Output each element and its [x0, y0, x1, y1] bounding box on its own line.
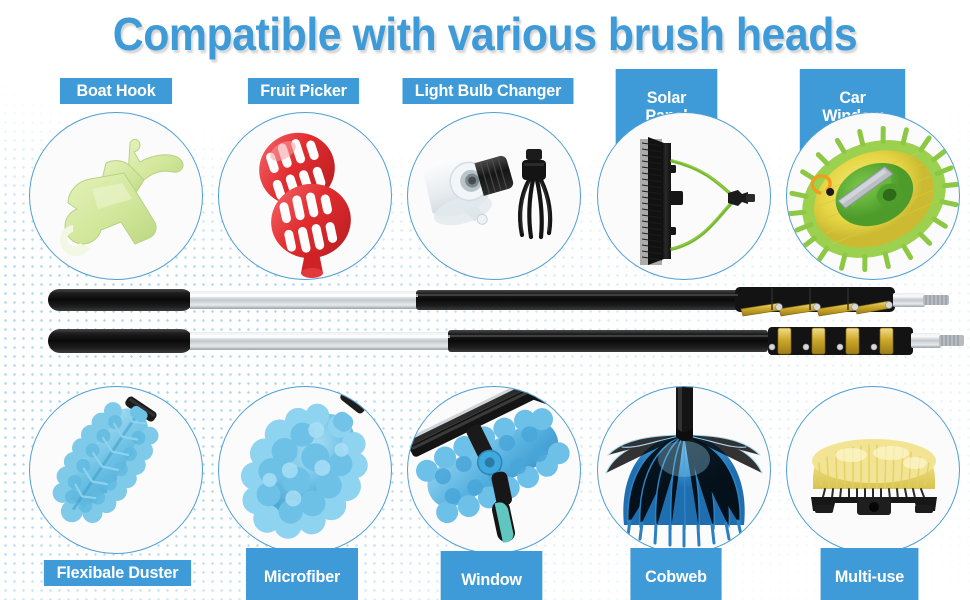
fruit-picker-icon [219, 113, 391, 279]
window-squeegee-icon [408, 387, 580, 553]
label-window-squeegee: Window Squeegee [441, 551, 543, 600]
circle-fruit-picker-inner [219, 113, 391, 279]
label-flexibale-duster: Flexibale Duster [44, 560, 191, 586]
label-cobweb-brush: Cobweb Brush [630, 548, 721, 600]
extension-pole-2 [48, 327, 964, 355]
label-window-squeegee-line1: Window [461, 570, 522, 589]
circle-multi-use-brush-inner [787, 387, 959, 553]
label-multi-use-brush-line1: Multi-use [835, 567, 904, 586]
circle-boat-hook [29, 112, 203, 280]
circle-light-bulb-changer [407, 112, 581, 280]
infographic-page: Compatible with various brush heads Boat… [0, 0, 970, 600]
car-window-cleaner-icon [787, 113, 959, 279]
circle-boat-hook-inner [30, 113, 202, 279]
page-title: Compatible with various brush heads [34, 7, 936, 61]
label-fruit-picker: Fruit Picker [248, 78, 359, 104]
circle-solar-panel-brush-inner [598, 113, 770, 279]
circle-light-bulb-changer-inner [408, 113, 580, 279]
multi-use-brush-icon [787, 387, 959, 553]
microfiber-duster-icon [219, 387, 391, 553]
solar-panel-brush-icon [598, 113, 770, 279]
circle-microfiber-duster [218, 386, 392, 554]
circle-fruit-picker [218, 112, 392, 280]
circle-microfiber-duster-inner [219, 387, 391, 553]
label-light-bulb-changer: Light Bulb Changer [403, 78, 574, 104]
circle-flexibale-duster-inner [30, 387, 202, 553]
label-multi-use-brush: Multi-use Brush [821, 548, 919, 600]
extension-pole-1 [48, 287, 949, 316]
circle-multi-use-brush [786, 386, 960, 554]
circle-cobweb-brush [597, 386, 771, 554]
circle-solar-panel-brush [597, 112, 771, 280]
extension-poles-illustration [0, 276, 970, 376]
light-bulb-changer-icon [408, 113, 580, 279]
circle-window-squeegee [407, 386, 581, 554]
circle-cobweb-brush-inner [598, 387, 770, 553]
circle-car-window-cleaner [786, 112, 960, 280]
label-microfiber-duster: Microfiber Duster [246, 548, 358, 600]
label-boat-hook: Boat Hook [60, 78, 172, 104]
circle-car-window-cleaner-inner [787, 113, 959, 279]
circle-window-squeegee-inner [408, 387, 580, 553]
circle-flexibale-duster [29, 386, 203, 554]
flexibale-duster-icon [30, 387, 202, 553]
label-cobweb-brush-line1: Cobweb [645, 567, 707, 586]
cobweb-brush-bristles-icon [598, 387, 770, 553]
label-microfiber-duster-line1: Microfiber [264, 567, 340, 586]
extension-poles-group [0, 276, 970, 376]
boat-hook-icon [30, 113, 202, 279]
